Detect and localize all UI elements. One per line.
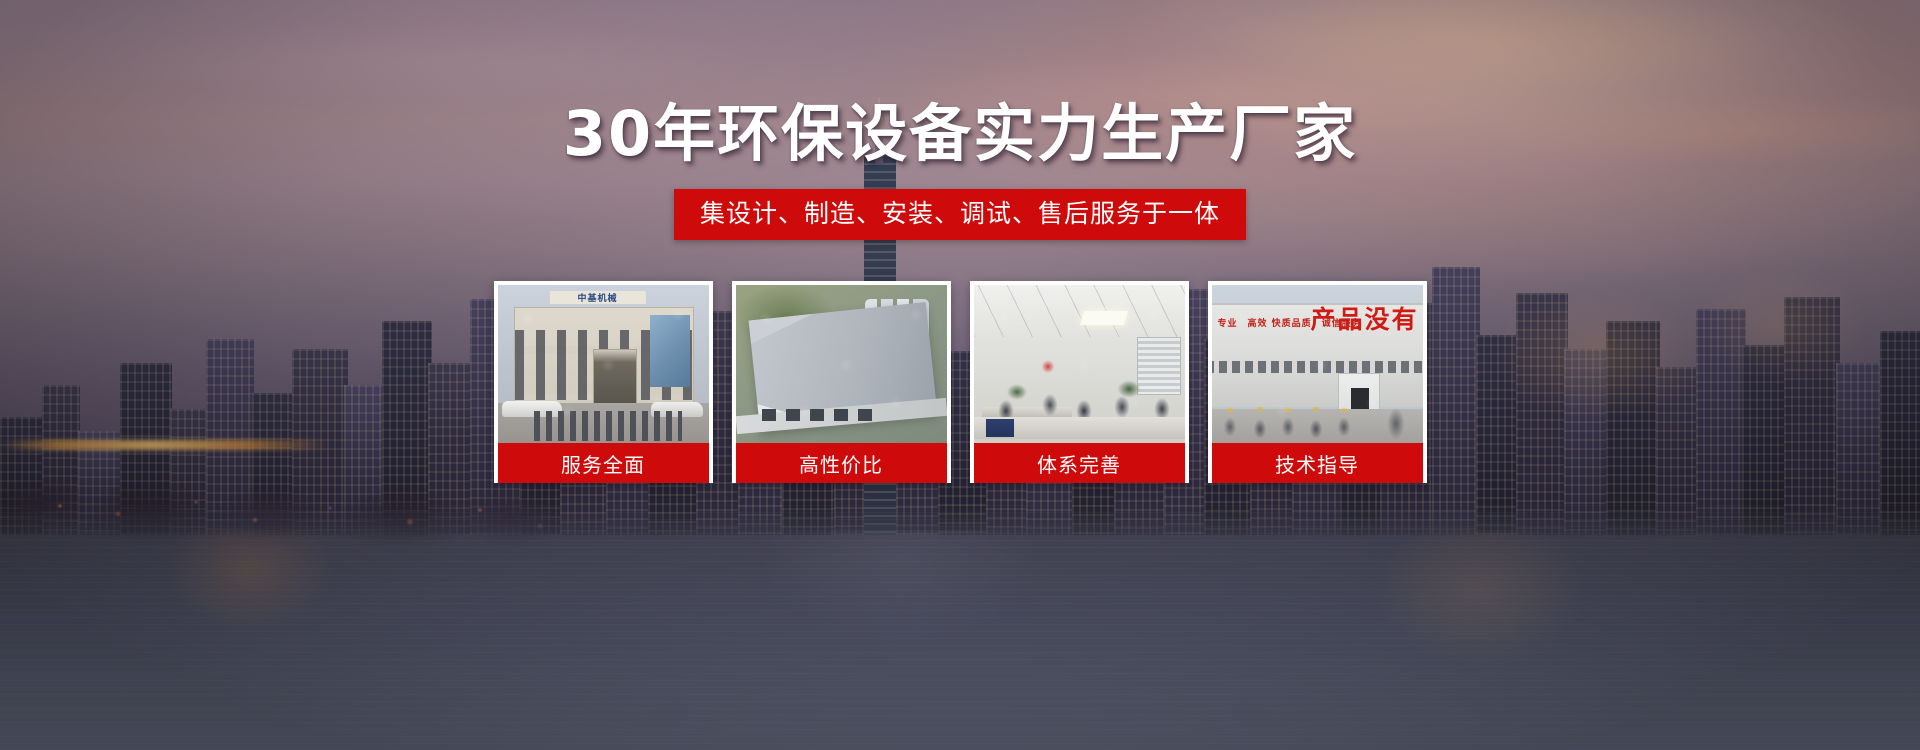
hero-banner: 30年环保设备实力生产厂家 集设计、制造、安装、调试、售后服务于一体 中基机械 <box>0 0 1920 750</box>
card-caption: 技术指导 <box>1212 443 1423 483</box>
building-sign-text: 中基机械 <box>550 291 646 304</box>
feature-card[interactable]: 体系完善 <box>970 281 1189 483</box>
card-caption: 高性价比 <box>736 443 947 483</box>
feature-card[interactable]: 中基机械 服务全面 <box>494 281 713 483</box>
card-caption: 体系完善 <box>974 443 1185 483</box>
feature-card[interactable]: 产品没有 专业 高效 快质品质 诚信服务 技术指导 <box>1208 281 1427 483</box>
card-photo-office <box>974 285 1185 443</box>
banner-subtitle-bar: 集设计、制造、安装、调试、售后服务于一体 <box>674 189 1246 240</box>
factory-wall-slogan-small: 专业 高效 快质品质 诚信服务 <box>1218 319 1362 330</box>
card-photo-headquarters: 中基机械 <box>498 285 709 443</box>
banner-headline: 30年环保设备实力生产厂家 <box>563 103 1357 165</box>
card-photo-plant <box>736 285 947 443</box>
banner-content: 30年环保设备实力生产厂家 集设计、制造、安装、调试、售后服务于一体 中基机械 <box>0 0 1920 750</box>
card-caption: 服务全面 <box>498 443 709 483</box>
feature-card[interactable]: 高性价比 <box>732 281 951 483</box>
feature-card-list: 中基机械 服务全面 <box>494 281 1427 483</box>
card-photo-factory: 产品没有 专业 高效 快质品质 诚信服务 <box>1212 285 1423 443</box>
